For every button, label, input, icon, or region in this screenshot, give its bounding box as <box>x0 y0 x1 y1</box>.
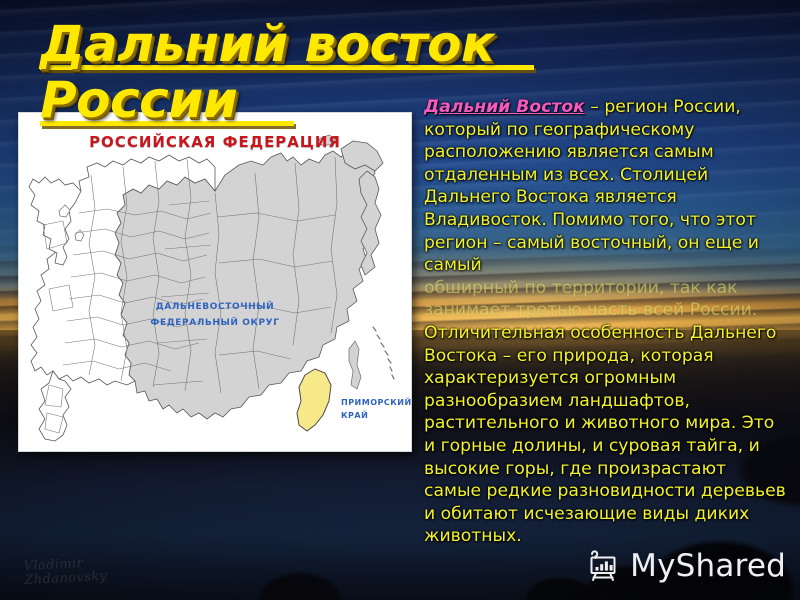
slide-body-text: Дальний Восток – регион России, который … <box>424 96 786 548</box>
map-label-primorsky-krai-line2: КРАЙ <box>341 409 368 420</box>
map-image-panel: .reg { fill:#ffffff; stroke:#595959; str… <box>18 112 412 452</box>
sakhalin-shape <box>349 341 361 389</box>
presentation-slide: Дальний восток России .reg { fill:#fffff… <box>0 0 800 600</box>
lead-term: Дальний Восток <box>424 97 585 117</box>
map-label-primorsky-krai-line1: ПРИМОРСКИЙ <box>341 396 411 407</box>
paragraph-1-rest: – регион России, который по географическ… <box>424 97 759 275</box>
kuril-islands <box>373 327 394 379</box>
map-header-title: РОССИЙСКАЯ ФЕДЕРАЦИЯ <box>19 133 411 151</box>
map-label-far-eastern-district-line1: ДАЛЬНЕВОСТОЧНЫЙ <box>156 300 275 312</box>
author-signature-watermark: Vladimir Zhdanovsky <box>23 556 107 588</box>
myshared-wordmark: MyShared <box>630 548 786 584</box>
russia-federal-districts-map: .reg { fill:#ffffff; stroke:#595959; str… <box>19 113 411 451</box>
myshared-logo[interactable]: MyShared <box>585 548 786 584</box>
presentation-board-icon <box>585 549 621 583</box>
far-east-district-shape <box>115 151 375 419</box>
map-label-far-eastern-district-line2: ФЕДЕРАЛЬНЫЙ ОКРУГ <box>150 316 279 328</box>
paragraph-1-tail: обширный по территории, так как занимает… <box>424 277 786 322</box>
paragraph-2: Отличительная особенность Дальнего Восто… <box>424 322 786 548</box>
primorsky-krai-shape <box>297 369 331 431</box>
bar-chart-glyph <box>596 561 613 570</box>
paragraph-1: Дальний Восток – регион России, который … <box>424 96 786 277</box>
